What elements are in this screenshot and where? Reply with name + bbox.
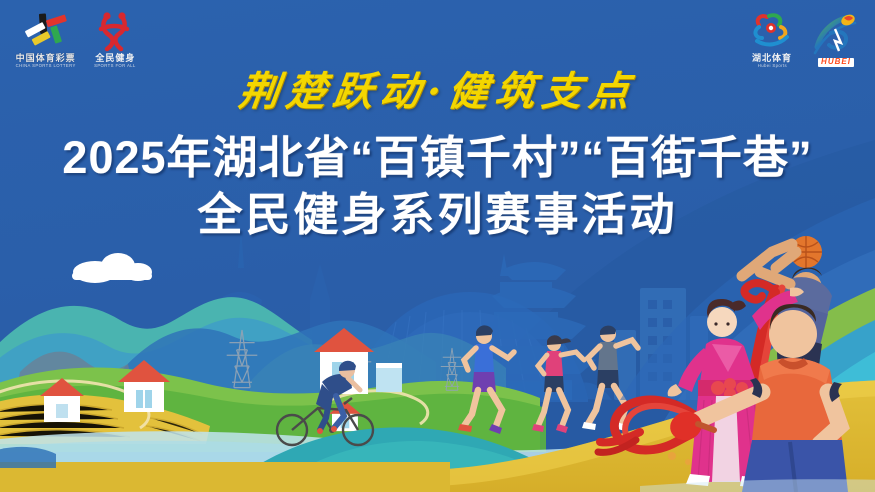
china-sports-lottery-mark bbox=[18, 11, 74, 53]
poster-root: 中国体育彩票 CHINA SPORTS LOTTERY 全民健身 SPORTS … bbox=[0, 0, 875, 492]
gold-left-band bbox=[0, 462, 450, 492]
sports-for-all-mark bbox=[91, 11, 139, 53]
logo-row-right: 湖北体育 Hubei Sports HUBEI bbox=[747, 0, 861, 80]
hubei-tourism-mark bbox=[811, 13, 861, 57]
logo-hubei-tourism: HUBEI bbox=[811, 13, 861, 67]
hubei-sports-mark bbox=[747, 11, 797, 53]
logo-sfa-en: SPORTS FOR ALL bbox=[95, 64, 137, 69]
logo-row-left: 中国体育彩票 CHINA SPORTS LOTTERY 全民健身 SPORTS … bbox=[14, 0, 139, 80]
logo-china-sports-lottery: 中国体育彩票 CHINA SPORTS LOTTERY bbox=[14, 11, 77, 69]
logo-hubei-sports: 湖北体育 Hubei Sports bbox=[747, 11, 797, 69]
logo-hbs-en: Hubei Sports bbox=[757, 64, 786, 69]
logo-hubei-cn: HUBEI bbox=[818, 58, 854, 67]
logo-lottery-en: CHINA SPORTS LOTTERY bbox=[16, 64, 76, 69]
logo-sports-for-all: 全民健身 SPORTS FOR ALL bbox=[91, 11, 139, 69]
